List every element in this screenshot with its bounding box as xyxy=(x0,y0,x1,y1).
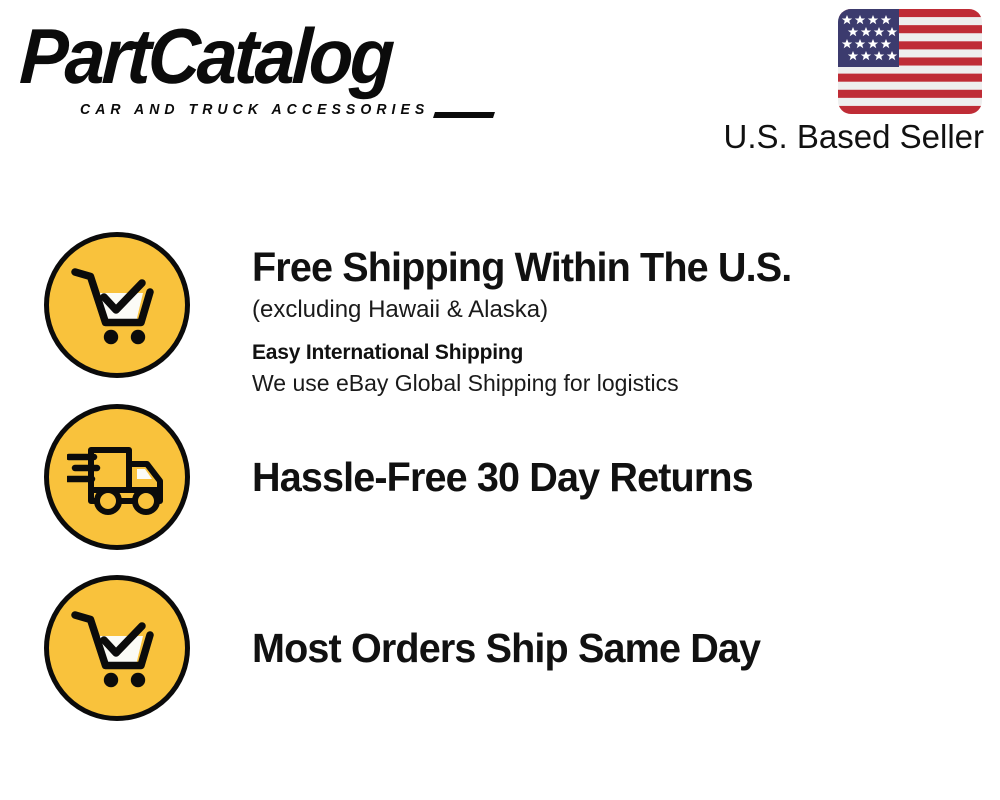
feature-text-block: Most Orders Ship Same Day xyxy=(190,575,1000,673)
feature-title: Hassle-Free 30 Day Returns xyxy=(252,452,974,502)
feature-title: Free Shipping Within The U.S. xyxy=(252,242,974,292)
brand-wordmark: PartCatalog xyxy=(18,16,459,96)
feature-row: Most Orders Ship Same Day xyxy=(0,575,1000,721)
us-based-seller-label: U.S. Based Seller xyxy=(724,118,984,156)
feature-sub-title: Easy International Shipping xyxy=(252,339,1000,367)
brand-logo[interactable]: PartCatalog CAR AND TRUCK ACCESSORIES xyxy=(22,16,492,121)
promo-banner: PartCatalog CAR AND TRUCK ACCESSORIES xyxy=(0,0,1000,800)
shopping-cart-check-icon xyxy=(44,232,190,378)
delivery-truck-icon xyxy=(44,404,190,550)
feature-text-block: Free Shipping Within The U.S. (excluding… xyxy=(190,232,1000,400)
feature-row: Free Shipping Within The U.S. (excluding… xyxy=(0,232,1000,400)
feature-sub-note: We use eBay Global Shipping for logistic… xyxy=(252,367,1000,400)
feature-title: Most Orders Ship Same Day xyxy=(252,623,974,673)
feature-note: (excluding Hawaii & Alaska) xyxy=(252,292,1000,328)
us-flag-icon xyxy=(838,9,982,114)
shopping-cart-check-icon xyxy=(44,575,190,721)
feature-text-block: Hassle-Free 30 Day Returns xyxy=(190,404,1000,502)
feature-row: Hassle-Free 30 Day Returns xyxy=(0,404,1000,550)
brand-tagline: CAR AND TRUCK ACCESSORIES xyxy=(80,102,429,118)
logo-underline-accent xyxy=(433,112,495,118)
